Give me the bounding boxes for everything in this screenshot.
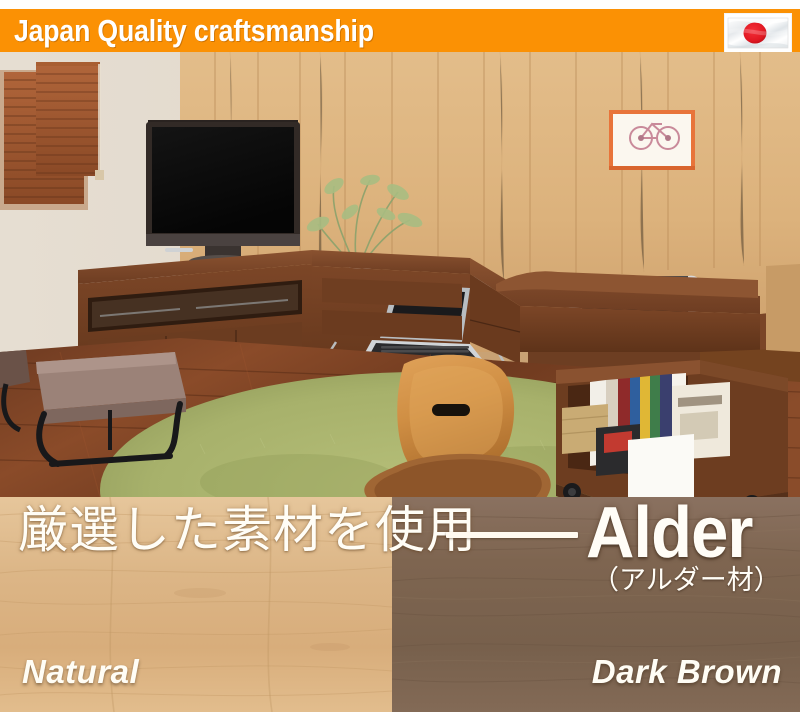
promo-banner: Japan Quality craftsmanship xyxy=(0,0,800,719)
bottom-white-strip xyxy=(0,712,800,719)
material-name: Alder xyxy=(586,495,753,571)
living-room-furniture-photo xyxy=(0,52,800,497)
caption-layer: 厳選した素材を使用 Alder （アルダー材） Natural Dark Bro… xyxy=(0,497,800,712)
headline-dash xyxy=(446,532,578,538)
material-name-jp: （アルダー材） xyxy=(592,565,781,595)
swatch-label-dark-brown: Dark Brown xyxy=(592,654,782,690)
japan-flag-icon xyxy=(724,13,792,52)
top-white-strip xyxy=(0,0,800,9)
header-bar: Japan Quality craftsmanship xyxy=(0,9,800,52)
swatch-label-natural: Natural xyxy=(22,654,139,690)
japanese-headline: 厳選した素材を使用 xyxy=(18,501,477,559)
page-title: Japan Quality craftsmanship xyxy=(14,14,374,47)
